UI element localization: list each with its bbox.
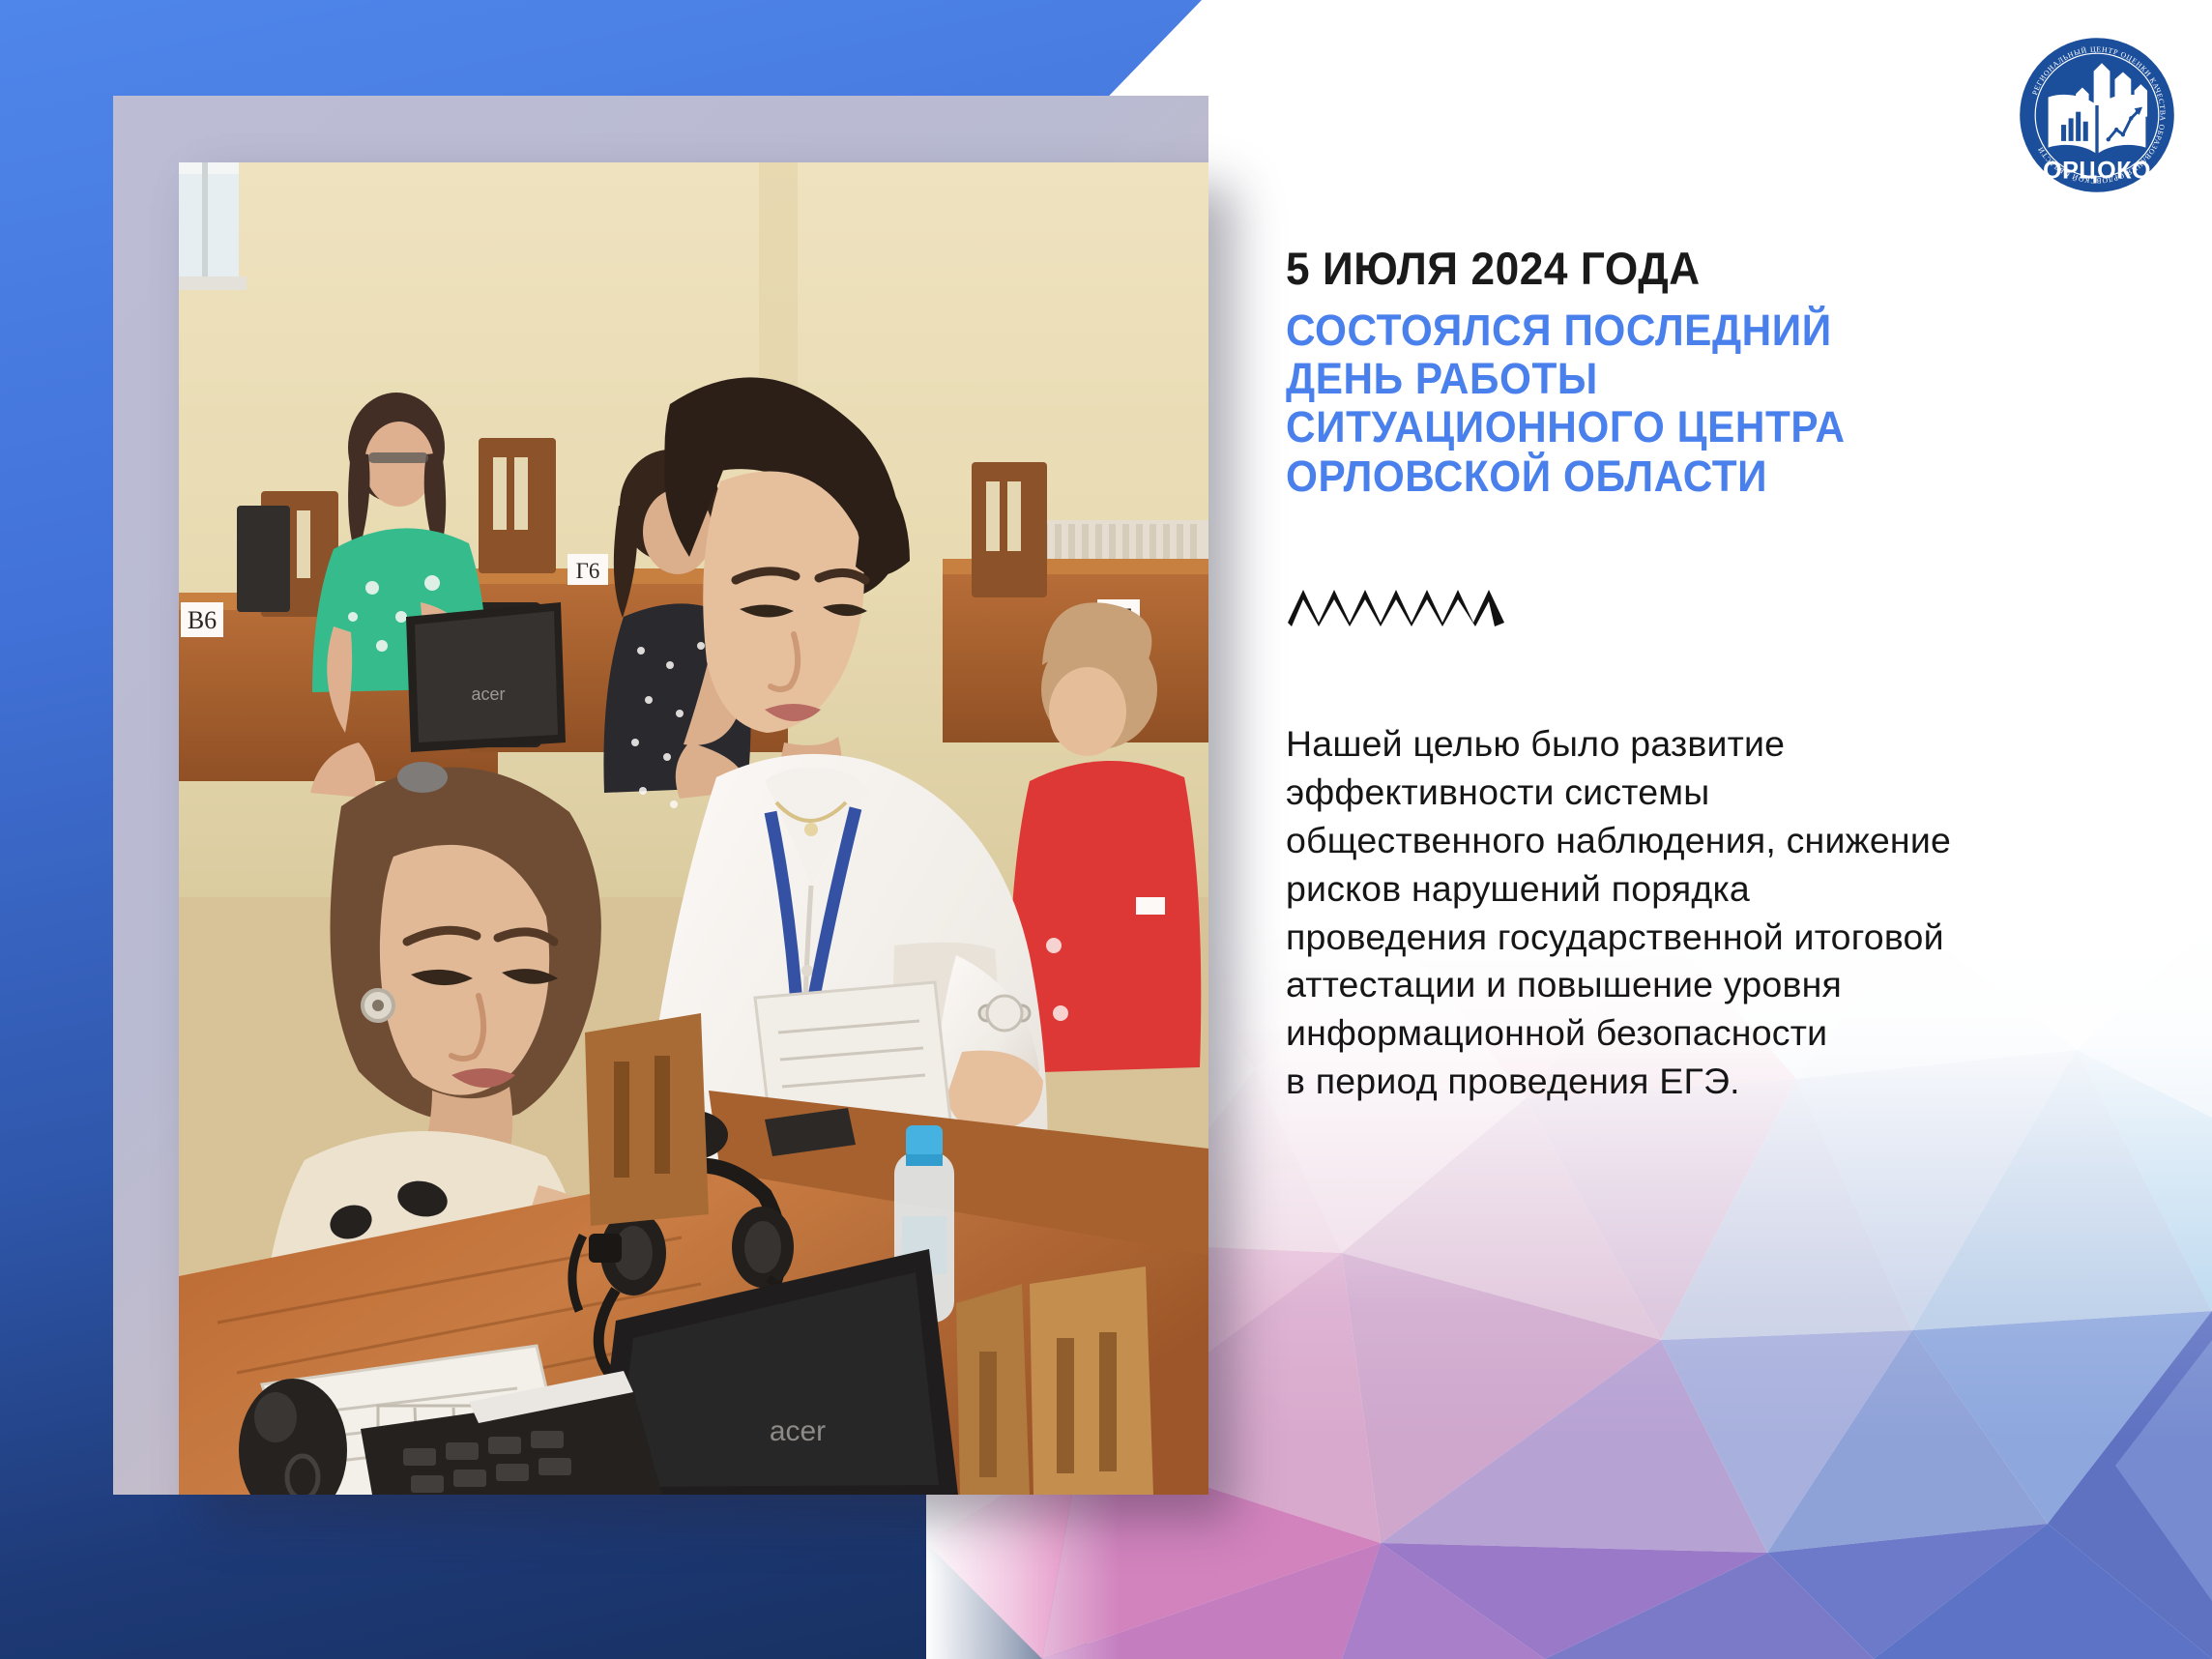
orcoko-logo: РЕГИОНАЛЬНЫЙ ЦЕНТР ОЦЕНКИ КАЧЕСТВА ОБРАЗ… (2016, 34, 2178, 196)
headline-line-2: ДЕНЬ РАБОТЫ (1286, 355, 2040, 403)
body-line-6: аттестации и повышение уровня (1286, 961, 2059, 1009)
body-paragraph: Нашей целью было развитие эффективности … (1286, 720, 2059, 1106)
body-line-3: общественного наблюдения, снижение (1286, 817, 2059, 865)
content-column: РЕГИОНАЛЬНЫЙ ЦЕНТР ОЦЕНКИ КАЧЕСТВА ОБРАЗ… (1286, 0, 2088, 1659)
body-line-7: информационной безопасности (1286, 1009, 2059, 1058)
headline-line-3: СИТУАЦИОННОГО ЦЕНТРА (1286, 403, 2040, 451)
situation-center-photo: В6 Г6 В5 В4 (179, 162, 1208, 1495)
headline-line-4: ОРЛОВСКОЙ ОБЛАСТИ (1286, 452, 2040, 501)
headline-date: 5 ИЮЛЯ 2024 ГОДА (1286, 244, 2040, 295)
poster-canvas: В6 Г6 В5 В4 (0, 0, 2212, 1659)
body-line-4: рисков нарушений порядка (1286, 865, 2059, 914)
body-line-5: проведения государственной итоговой (1286, 914, 2059, 962)
zigzag-icon (1288, 584, 1510, 626)
photo-illustration: В6 Г6 В5 В4 (179, 162, 1208, 1495)
body-line-8: в период проведения ЕГЭ. (1286, 1058, 2059, 1106)
orcoko-logo-svg: РЕГИОНАЛЬНЫЙ ЦЕНТР ОЦЕНКИ КАЧЕСТВА ОБРАЗ… (2016, 34, 2178, 196)
zigzag-divider (1288, 584, 1510, 626)
body-line-2: эффективности системы (1286, 769, 2059, 817)
headline-block: 5 ИЮЛЯ 2024 ГОДА СОСТОЯЛСЯ ПОСЛЕДНИЙ ДЕН… (1286, 244, 2088, 501)
body-line-1: Нашей целью было развитие (1286, 720, 2059, 769)
headline-line-1: СОСТОЯЛСЯ ПОСЛЕДНИЙ (1286, 306, 2040, 355)
logo-acronym: ОРЦОКО (2043, 158, 2151, 185)
